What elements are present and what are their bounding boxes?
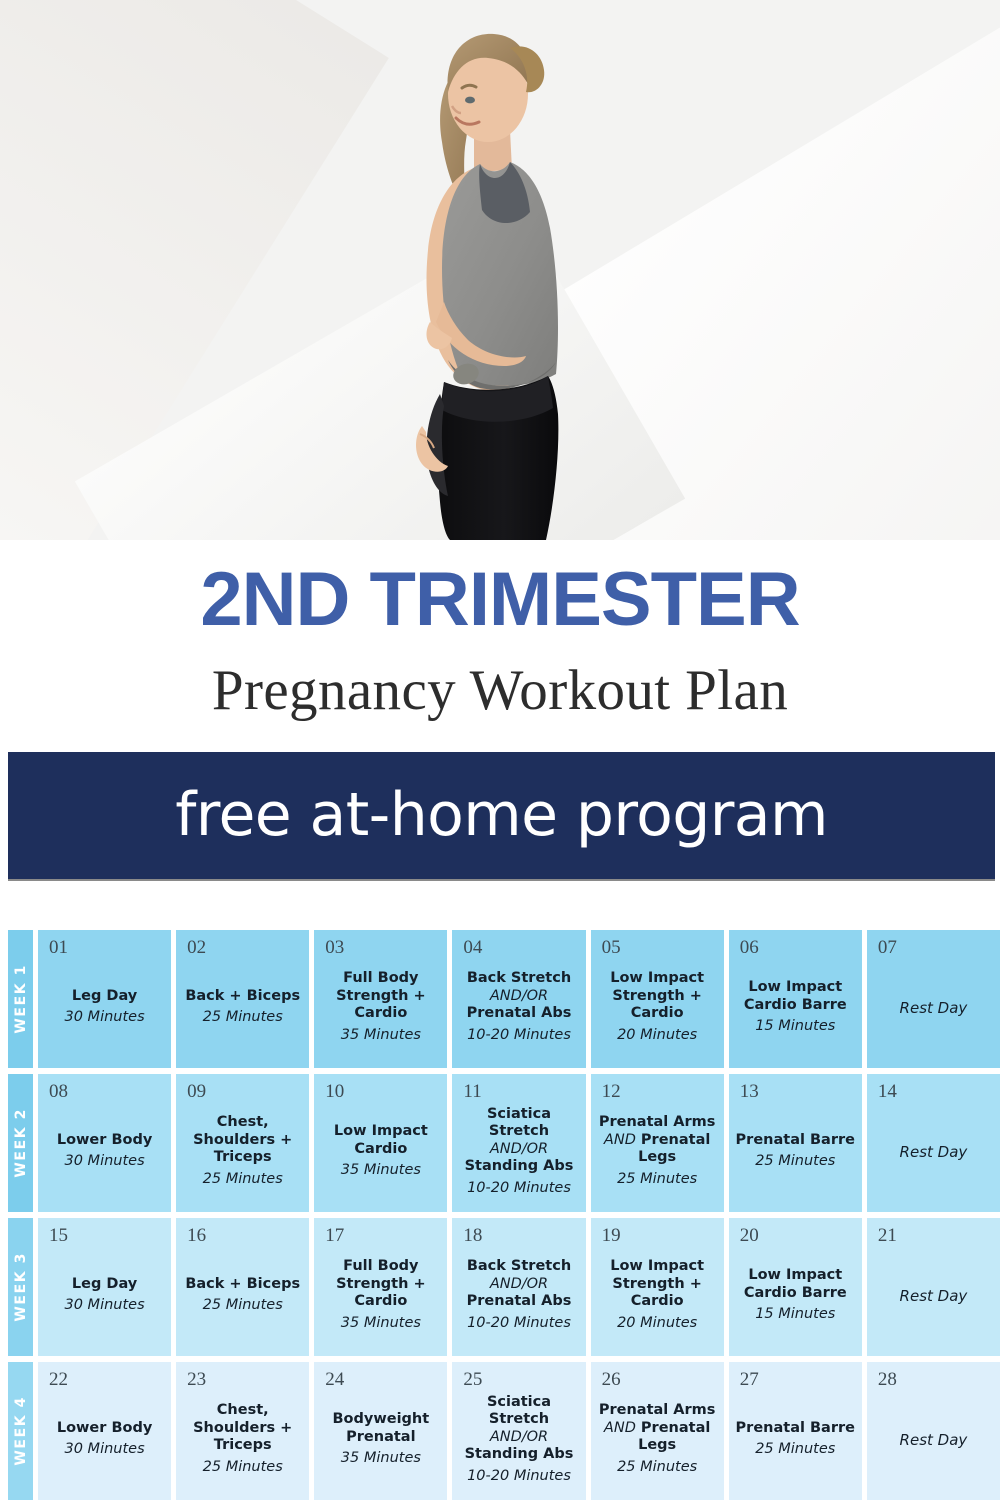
workout-title: Lower Body <box>57 1132 152 1150</box>
calendar-week-row: WEEK 422Lower Body30 Minutes23Chest, Sho… <box>0 1362 1000 1500</box>
day-number: 11 <box>458 1082 579 1101</box>
week-label-text: WEEK 1 <box>13 964 29 1034</box>
workout-duration: 20 Minutes <box>617 1314 697 1333</box>
workout-title: Low Impact Cardio <box>320 1123 441 1158</box>
workout-title-connector: AND <box>604 1420 636 1436</box>
workout-title: Back StretchAND/ORPrenatal Abs <box>467 970 572 1023</box>
week-day-cells: 01Leg Day30 Minutes02Back + Biceps25 Min… <box>33 930 1000 1068</box>
workout-title-part-b: Prenatal Abs <box>467 1293 572 1309</box>
week-label-tab: WEEK 2 <box>8 1074 33 1212</box>
workout-duration: 25 Minutes <box>755 1152 835 1171</box>
workout-title: Prenatal ArmsAND Prenatal Legs <box>597 1114 718 1167</box>
pregnant-woman-illustration <box>370 22 650 540</box>
day-number: 22 <box>44 1370 165 1389</box>
day-cell-body: Sciatica StretchAND/ORStanding Abs10-20 … <box>458 1389 579 1490</box>
day-cell-body: Prenatal ArmsAND Prenatal Legs25 Minutes <box>597 1101 718 1202</box>
day-cell-body: Prenatal ArmsAND Prenatal Legs25 Minutes <box>597 1389 718 1490</box>
day-cell-body: Full Body Strength + Cardio35 Minutes <box>320 1245 441 1346</box>
day-number: 08 <box>44 1082 165 1101</box>
week-label-text: WEEK 4 <box>13 1396 29 1466</box>
day-number: 09 <box>182 1082 303 1101</box>
workout-duration: 35 Minutes <box>341 1314 421 1333</box>
workout-title: Low Impact Strength + Cardio <box>597 1258 718 1311</box>
workout-duration: 30 Minutes <box>65 1296 145 1315</box>
calendar-day-cell[interactable]: 28Rest Day <box>867 1362 1000 1500</box>
day-cell-body: Low Impact Cardio Barre15 Minutes <box>735 1245 856 1346</box>
free-program-banner: free at-home program <box>8 752 995 879</box>
workout-duration: 15 Minutes <box>755 1305 835 1324</box>
calendar-day-cell[interactable]: 05Low Impact Strength + Cardio20 Minutes <box>591 930 724 1068</box>
day-number: 18 <box>458 1226 579 1245</box>
workout-title: Leg Day <box>72 988 137 1006</box>
workout-duration: 35 Minutes <box>341 1161 421 1180</box>
calendar-day-cell[interactable]: 12Prenatal ArmsAND Prenatal Legs25 Minut… <box>591 1074 724 1212</box>
calendar-week-row: WEEK 101Leg Day30 Minutes02Back + Biceps… <box>0 930 1000 1068</box>
workout-title-connector: AND <box>604 1132 636 1148</box>
day-cell-body: Back StretchAND/ORPrenatal Abs10-20 Minu… <box>458 957 579 1058</box>
calendar-day-cell[interactable]: 02Back + Biceps25 Minutes <box>176 930 309 1068</box>
day-number: 25 <box>458 1370 579 1389</box>
workout-duration: 25 Minutes <box>203 1170 283 1189</box>
workout-title: Back StretchAND/ORPrenatal Abs <box>467 1258 572 1311</box>
workout-duration: 30 Minutes <box>65 1008 145 1027</box>
day-cell-body: Prenatal Barre25 Minutes <box>735 1101 856 1202</box>
week-day-cells: 08Lower Body30 Minutes09Chest, Shoulders… <box>33 1074 1000 1212</box>
day-cell-body: Low Impact Strength + Cardio20 Minutes <box>597 957 718 1058</box>
day-cell-body: Full Body Strength + Cardio35 Minutes <box>320 957 441 1058</box>
calendar-day-cell[interactable]: 21Rest Day <box>867 1218 1000 1356</box>
rest-day-label: Rest Day <box>900 999 968 1017</box>
day-number: 16 <box>182 1226 303 1245</box>
hero-photo <box>0 0 1000 540</box>
workout-duration: 35 Minutes <box>341 1026 421 1045</box>
workout-duration: 25 Minutes <box>755 1440 835 1459</box>
day-cell-body: Chest, Shoulders + Triceps25 Minutes <box>182 1101 303 1202</box>
day-number: 13 <box>735 1082 856 1101</box>
calendar-day-cell[interactable]: 18Back StretchAND/ORPrenatal Abs10-20 Mi… <box>452 1218 585 1356</box>
workout-title: Chest, Shoulders + Triceps <box>182 1402 303 1455</box>
day-number: 03 <box>320 938 441 957</box>
day-cell-body: Leg Day30 Minutes <box>44 957 165 1058</box>
day-number: 21 <box>873 1226 994 1245</box>
banner-wrap: free at-home program <box>0 752 1000 881</box>
workout-title: Low Impact Strength + Cardio <box>597 970 718 1023</box>
day-number: 02 <box>182 938 303 957</box>
workout-title-part-a: Sciatica Stretch <box>487 1106 551 1140</box>
workout-duration: 15 Minutes <box>755 1017 835 1036</box>
day-number: 17 <box>320 1226 441 1245</box>
calendar-day-cell[interactable]: 24Bodyweight Prenatal35 Minutes <box>314 1362 447 1500</box>
day-number: 01 <box>44 938 165 957</box>
workout-title-connector: AND/OR <box>490 1141 548 1157</box>
workout-duration: 20 Minutes <box>617 1026 697 1045</box>
workout-title-part-b: Standing Abs <box>465 1158 574 1174</box>
calendar-day-cell[interactable]: 19Low Impact Strength + Cardio20 Minutes <box>591 1218 724 1356</box>
day-cell-body: Chest, Shoulders + Triceps25 Minutes <box>182 1389 303 1490</box>
workout-title: Lower Body <box>57 1420 152 1438</box>
week-day-cells: 15Leg Day30 Minutes16Back + Biceps25 Min… <box>33 1218 1000 1356</box>
week-label-text: WEEK 3 <box>13 1252 29 1322</box>
workout-title: Prenatal ArmsAND Prenatal Legs <box>597 1402 718 1455</box>
day-number: 07 <box>873 938 994 957</box>
workout-title: Low Impact Cardio Barre <box>735 1267 856 1302</box>
workout-title-part-b: Prenatal Legs <box>638 1132 710 1166</box>
banner-label: free at-home program <box>175 780 828 850</box>
workout-duration: 10-20 Minutes <box>467 1467 571 1486</box>
calendar-day-cell[interactable]: 26Prenatal ArmsAND Prenatal Legs25 Minut… <box>591 1362 724 1500</box>
day-cell-body: Rest Day <box>873 957 994 1058</box>
rest-day-label: Rest Day <box>900 1143 968 1161</box>
calendar-day-cell[interactable]: 07Rest Day <box>867 930 1000 1068</box>
workout-title: Sciatica StretchAND/ORStanding Abs <box>458 1394 579 1464</box>
workout-title: Full Body Strength + Cardio <box>320 970 441 1023</box>
calendar-day-cell[interactable]: 27Prenatal Barre25 Minutes <box>729 1362 862 1500</box>
calendar-day-cell[interactable]: 16Back + Biceps25 Minutes <box>176 1218 309 1356</box>
calendar-day-cell[interactable]: 20Low Impact Cardio Barre15 Minutes <box>729 1218 862 1356</box>
day-cell-body: Bodyweight Prenatal35 Minutes <box>320 1389 441 1490</box>
week-label-tab: WEEK 1 <box>8 930 33 1068</box>
workout-title: Prenatal Barre <box>736 1132 855 1150</box>
day-cell-body: Leg Day30 Minutes <box>44 1245 165 1346</box>
workout-duration: 25 Minutes <box>617 1458 697 1477</box>
workout-title-part-b: Prenatal Abs <box>467 1005 572 1021</box>
workout-duration: 30 Minutes <box>65 1440 145 1459</box>
workout-title: Leg Day <box>72 1276 137 1294</box>
title-block: 2ND TRIMESTER Pregnancy Workout Plan <box>0 540 1000 722</box>
workout-duration: 10-20 Minutes <box>467 1314 571 1333</box>
calendar-day-cell[interactable]: 25Sciatica StretchAND/ORStanding Abs10-2… <box>452 1362 585 1500</box>
workout-plan-poster: 2ND TRIMESTER Pregnancy Workout Plan fre… <box>0 0 1000 1500</box>
day-cell-body: Prenatal Barre25 Minutes <box>735 1389 856 1490</box>
calendar-day-cell[interactable]: 04Back StretchAND/ORPrenatal Abs10-20 Mi… <box>452 930 585 1068</box>
day-number: 12 <box>597 1082 718 1101</box>
workout-duration: 10-20 Minutes <box>467 1179 571 1198</box>
day-number: 05 <box>597 938 718 957</box>
day-number: 24 <box>320 1370 441 1389</box>
day-cell-body: Lower Body30 Minutes <box>44 1101 165 1202</box>
week-label-tab: WEEK 3 <box>8 1218 33 1356</box>
calendar-day-cell[interactable]: 10Low Impact Cardio35 Minutes <box>314 1074 447 1212</box>
calendar-day-cell[interactable]: 22Lower Body30 Minutes <box>38 1362 171 1500</box>
workout-title-part-a: Back Stretch <box>467 970 571 986</box>
day-number: 14 <box>873 1082 994 1101</box>
day-cell-body: Low Impact Cardio Barre15 Minutes <box>735 957 856 1058</box>
calendar-day-cell[interactable]: 13Prenatal Barre25 Minutes <box>729 1074 862 1212</box>
day-cell-body: Back StretchAND/ORPrenatal Abs10-20 Minu… <box>458 1245 579 1346</box>
workout-title-part-a: Sciatica Stretch <box>487 1394 551 1428</box>
workout-title-connector: AND/OR <box>490 1429 548 1445</box>
workout-calendar: WEEK 101Leg Day30 Minutes02Back + Biceps… <box>0 930 1000 1500</box>
day-cell-body: Sciatica StretchAND/ORStanding Abs10-20 … <box>458 1101 579 1202</box>
day-number: 23 <box>182 1370 303 1389</box>
workout-title: Back + Biceps <box>185 1276 300 1294</box>
day-number: 06 <box>735 938 856 957</box>
calendar-week-row: WEEK 315Leg Day30 Minutes16Back + Biceps… <box>0 1218 1000 1356</box>
day-cell-body: Rest Day <box>873 1389 994 1490</box>
day-number: 27 <box>735 1370 856 1389</box>
workout-title: Full Body Strength + Cardio <box>320 1258 441 1311</box>
week-label-tab: WEEK 4 <box>8 1362 33 1500</box>
calendar-day-cell[interactable]: 09Chest, Shoulders + Triceps25 Minutes <box>176 1074 309 1212</box>
workout-title-part-a: Prenatal Arms <box>599 1114 716 1130</box>
workout-title: Sciatica StretchAND/ORStanding Abs <box>458 1106 579 1176</box>
day-number: 19 <box>597 1226 718 1245</box>
calendar-day-cell[interactable]: 06Low Impact Cardio Barre15 Minutes <box>729 930 862 1068</box>
day-number: 20 <box>735 1226 856 1245</box>
page-subtitle: Pregnancy Workout Plan <box>0 660 1000 722</box>
workout-duration: 25 Minutes <box>203 1296 283 1315</box>
day-number: 10 <box>320 1082 441 1101</box>
calendar-day-cell[interactable]: 15Leg Day30 Minutes <box>38 1218 171 1356</box>
workout-title-part-b: Standing Abs <box>465 1446 574 1462</box>
day-number: 15 <box>44 1226 165 1245</box>
day-cell-body: Rest Day <box>873 1101 994 1202</box>
workout-title-connector: AND/OR <box>490 1276 548 1292</box>
workout-title-connector: AND/OR <box>490 988 548 1004</box>
workout-title: Prenatal Barre <box>736 1420 855 1438</box>
workout-duration: 10-20 Minutes <box>467 1026 571 1045</box>
calendar-day-cell[interactable]: 11Sciatica StretchAND/ORStanding Abs10-2… <box>452 1074 585 1212</box>
workout-title-part-b: Prenatal Legs <box>638 1420 710 1454</box>
day-number: 26 <box>597 1370 718 1389</box>
workout-duration: 35 Minutes <box>341 1449 421 1468</box>
calendar-day-cell[interactable]: 14Rest Day <box>867 1074 1000 1212</box>
calendar-day-cell[interactable]: 03Full Body Strength + Cardio35 Minutes <box>314 930 447 1068</box>
calendar-day-cell[interactable]: 23Chest, Shoulders + Triceps25 Minutes <box>176 1362 309 1500</box>
day-number: 04 <box>458 938 579 957</box>
day-cell-body: Low Impact Cardio35 Minutes <box>320 1101 441 1202</box>
banner-divider <box>8 879 995 881</box>
rest-day-label: Rest Day <box>900 1287 968 1305</box>
day-cell-body: Back + Biceps25 Minutes <box>182 1245 303 1346</box>
day-number: 28 <box>873 1370 994 1389</box>
workout-duration: 30 Minutes <box>65 1152 145 1171</box>
day-cell-body: Back + Biceps25 Minutes <box>182 957 303 1058</box>
workout-title-part-a: Prenatal Arms <box>599 1402 716 1418</box>
workout-title: Low Impact Cardio Barre <box>735 979 856 1014</box>
calendar-week-row: WEEK 208Lower Body30 Minutes09Chest, Sho… <box>0 1074 1000 1212</box>
day-cell-body: Lower Body30 Minutes <box>44 1389 165 1490</box>
day-cell-body: Rest Day <box>873 1245 994 1346</box>
workout-title: Back + Biceps <box>185 988 300 1006</box>
day-cell-body: Low Impact Strength + Cardio20 Minutes <box>597 1245 718 1346</box>
calendar-day-cell[interactable]: 17Full Body Strength + Cardio35 Minutes <box>314 1218 447 1356</box>
week-label-text: WEEK 2 <box>13 1108 29 1178</box>
week-day-cells: 22Lower Body30 Minutes23Chest, Shoulders… <box>33 1362 1000 1500</box>
workout-title-part-a: Back Stretch <box>467 1258 571 1274</box>
page-title: 2ND TRIMESTER <box>0 562 1000 638</box>
rest-day-label: Rest Day <box>900 1431 968 1449</box>
calendar-day-cell[interactable]: 01Leg Day30 Minutes <box>38 930 171 1068</box>
workout-duration: 25 Minutes <box>203 1458 283 1477</box>
calendar-day-cell[interactable]: 08Lower Body30 Minutes <box>38 1074 171 1212</box>
workout-duration: 25 Minutes <box>203 1008 283 1027</box>
workout-title: Chest, Shoulders + Triceps <box>182 1114 303 1167</box>
workout-title: Bodyweight Prenatal <box>320 1411 441 1446</box>
workout-duration: 25 Minutes <box>617 1170 697 1189</box>
